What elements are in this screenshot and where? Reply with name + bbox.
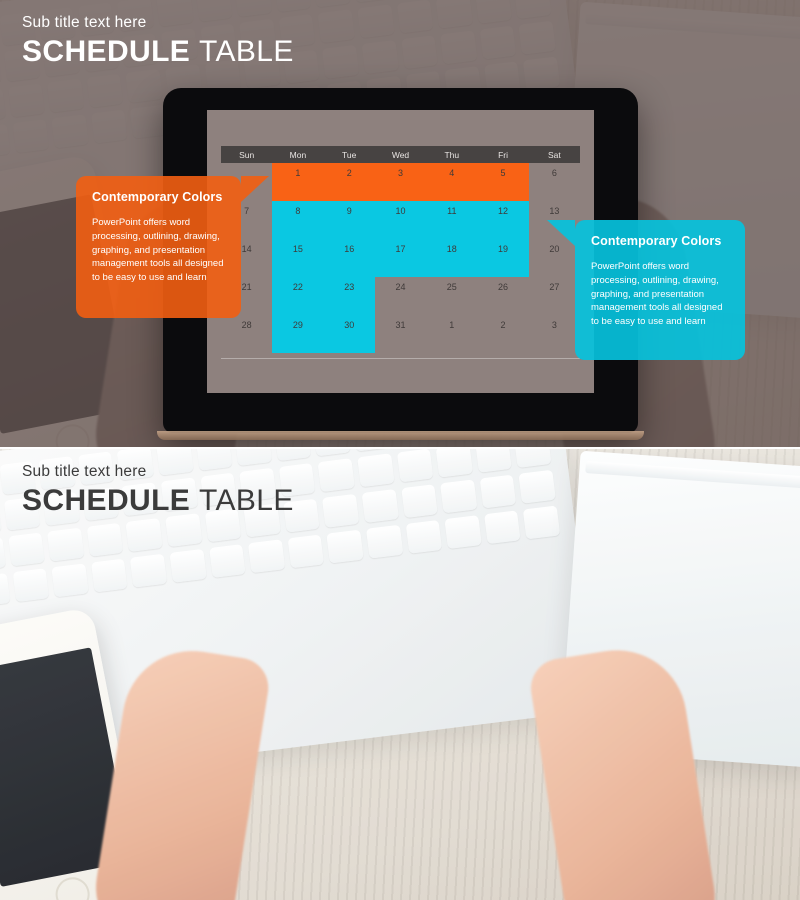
tablet-stand [157, 431, 644, 440]
callout-heading: Contemporary Colors [92, 190, 225, 204]
calendar-cell[interactable]: 31 [375, 315, 426, 353]
calendar-cell[interactable]: 4 [426, 163, 477, 201]
callout-cyan[interactable]: Contemporary Colors PowerPoint offers wo… [575, 220, 745, 360]
callout-pointer-icon [241, 176, 269, 202]
calendar-cell[interactable]: 3 [375, 163, 426, 201]
page-title-light: TABLE [199, 35, 294, 68]
calendar-cell[interactable]: 2 [324, 163, 375, 201]
page-title: SCHEDULE TABLE [22, 36, 294, 68]
panel-subtitle: Sub title text here [22, 14, 294, 32]
tablet-screen: Sun Mon Tue Wed Thu Fri Sat [207, 110, 594, 393]
calendar-cell[interactable]: 1 [426, 315, 477, 353]
calendar-cell[interactable]: 22 [272, 277, 323, 315]
calendar-cell[interactable]: 27 [529, 277, 580, 315]
calendar-cell[interactable]: 25 [426, 277, 477, 315]
panel-heading: Sub title text here SCHEDULE TABLE [22, 463, 294, 517]
calendar-cell[interactable]: 12 [477, 201, 528, 239]
page-title-bold: SCHEDULE [22, 484, 190, 517]
calendar-cell[interactable]: 8 [272, 201, 323, 239]
calendar-cell[interactable]: 5 [477, 163, 528, 201]
calendar-cell[interactable]: 2 [477, 315, 528, 353]
weekday-wed: Wed [375, 150, 426, 160]
calendar-cell[interactable]: 10 [375, 201, 426, 239]
weekday-mon: Mon [272, 150, 323, 160]
calendar-weekday-header: Sun Mon Tue Wed Thu Fri Sat [221, 146, 580, 163]
calendar-cell[interactable]: 28 [221, 315, 272, 353]
panel-heading: Sub title text here SCHEDULE TABLE [22, 14, 294, 68]
panel-subtitle: Sub title text here [22, 463, 294, 481]
callout-heading: Contemporary Colors [591, 234, 729, 248]
calendar-cell[interactable]: 24 [375, 277, 426, 315]
slide-panel-light: Sun Mon Tue Wed Thu Fri Sat 1 [0, 449, 800, 900]
page-title: SCHEDULE TABLE [22, 485, 294, 517]
calendar-cell[interactable]: 11 [426, 201, 477, 239]
calendar-cell[interactable]: 29 [272, 315, 323, 353]
weekday-sun: Sun [221, 150, 272, 160]
calendar-cell[interactable]: 9 [324, 201, 375, 239]
calendar-cell[interactable]: 1 [272, 163, 323, 201]
callout-body: PowerPoint offers word processing, outli… [92, 216, 225, 285]
weekday-thu: Thu [426, 150, 477, 160]
weekday-fri: Fri [477, 150, 528, 160]
calendar-cell[interactable]: 3 [529, 315, 580, 353]
callout-pointer-icon [547, 220, 575, 246]
weekday-sat: Sat [529, 150, 580, 160]
calendar-cell[interactable]: 18 [426, 239, 477, 277]
page-title-light: TABLE [199, 484, 294, 517]
calendar-cell[interactable]: 17 [375, 239, 426, 277]
smartphone-home-button [53, 421, 93, 447]
calendar-cell[interactable]: 26 [477, 277, 528, 315]
callout-body: PowerPoint offers word processing, outli… [591, 260, 729, 329]
callout-orange[interactable]: Contemporary Colors PowerPoint offers wo… [76, 176, 241, 318]
page-title-bold: SCHEDULE [22, 35, 190, 68]
slide-panel-dark: Sun Mon Tue Wed Thu Fri Sat [0, 0, 800, 447]
slide-stage: Sun Mon Tue Wed Thu Fri Sat [0, 0, 800, 900]
calendar-cell[interactable]: 16 [324, 239, 375, 277]
calendar-cell[interactable]: 19 [477, 239, 528, 277]
calendar-divider [221, 358, 580, 359]
weekday-tue: Tue [324, 150, 375, 160]
calendar-cell[interactable]: 15 [272, 239, 323, 277]
calendar-cell[interactable]: 30 [324, 315, 375, 353]
smartphone-home-button [53, 874, 93, 900]
calendar-grid: 1 2 3 4 5 6 7 8 9 10 11 12 13 [221, 163, 580, 353]
calendar-cell[interactable]: 6 [529, 163, 580, 201]
schedule-calendar: Sun Mon Tue Wed Thu Fri Sat [221, 146, 580, 353]
calendar-cell[interactable]: 23 [324, 277, 375, 315]
